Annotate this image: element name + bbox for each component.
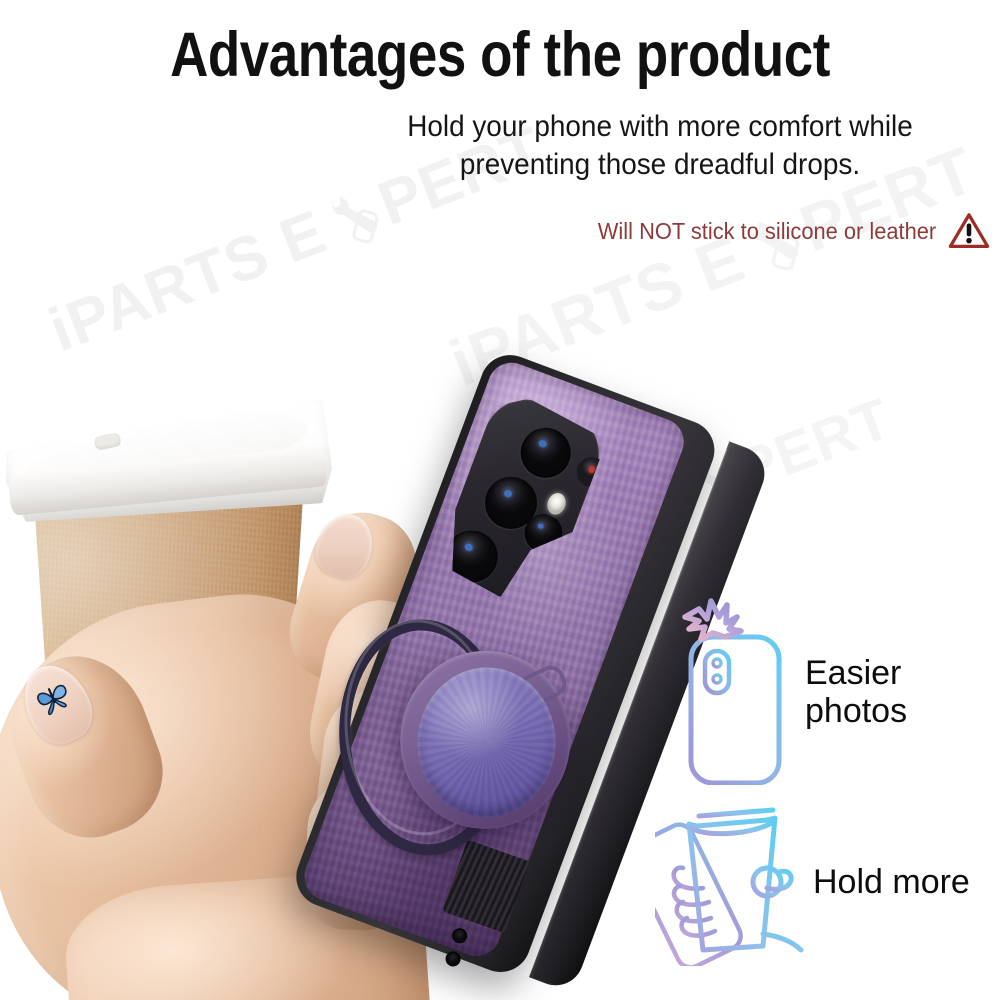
warning-row: Will NOT stick to silicone or leather (460, 212, 990, 250)
warning-triangle-icon (948, 212, 990, 250)
phone-with-camera-flash-icon (655, 595, 805, 790)
feature-hold-more: Hold more (655, 792, 1000, 972)
feature-label-hold-more: Hold more (813, 863, 970, 901)
product-infographic: iPARTS EPERTiPARTS EPERTiPARTS EPERTiPAR… (0, 0, 1000, 1000)
page-title: Advantages of the product (80, 22, 920, 88)
hand-holding-phone-and-cup-icon (655, 794, 813, 971)
camera-lens-1 (514, 421, 578, 485)
feature-easier-photos: Easier photos (655, 592, 995, 792)
product-photo-scene (0, 330, 720, 1000)
page-subtitle: Hold your phone with more comfort while … (353, 108, 967, 185)
camera-flash-led (544, 490, 569, 517)
warning-text: Will NOT stick to silicone or leather (598, 218, 936, 245)
feature-label-easier-photos: Easier photos (805, 654, 907, 730)
